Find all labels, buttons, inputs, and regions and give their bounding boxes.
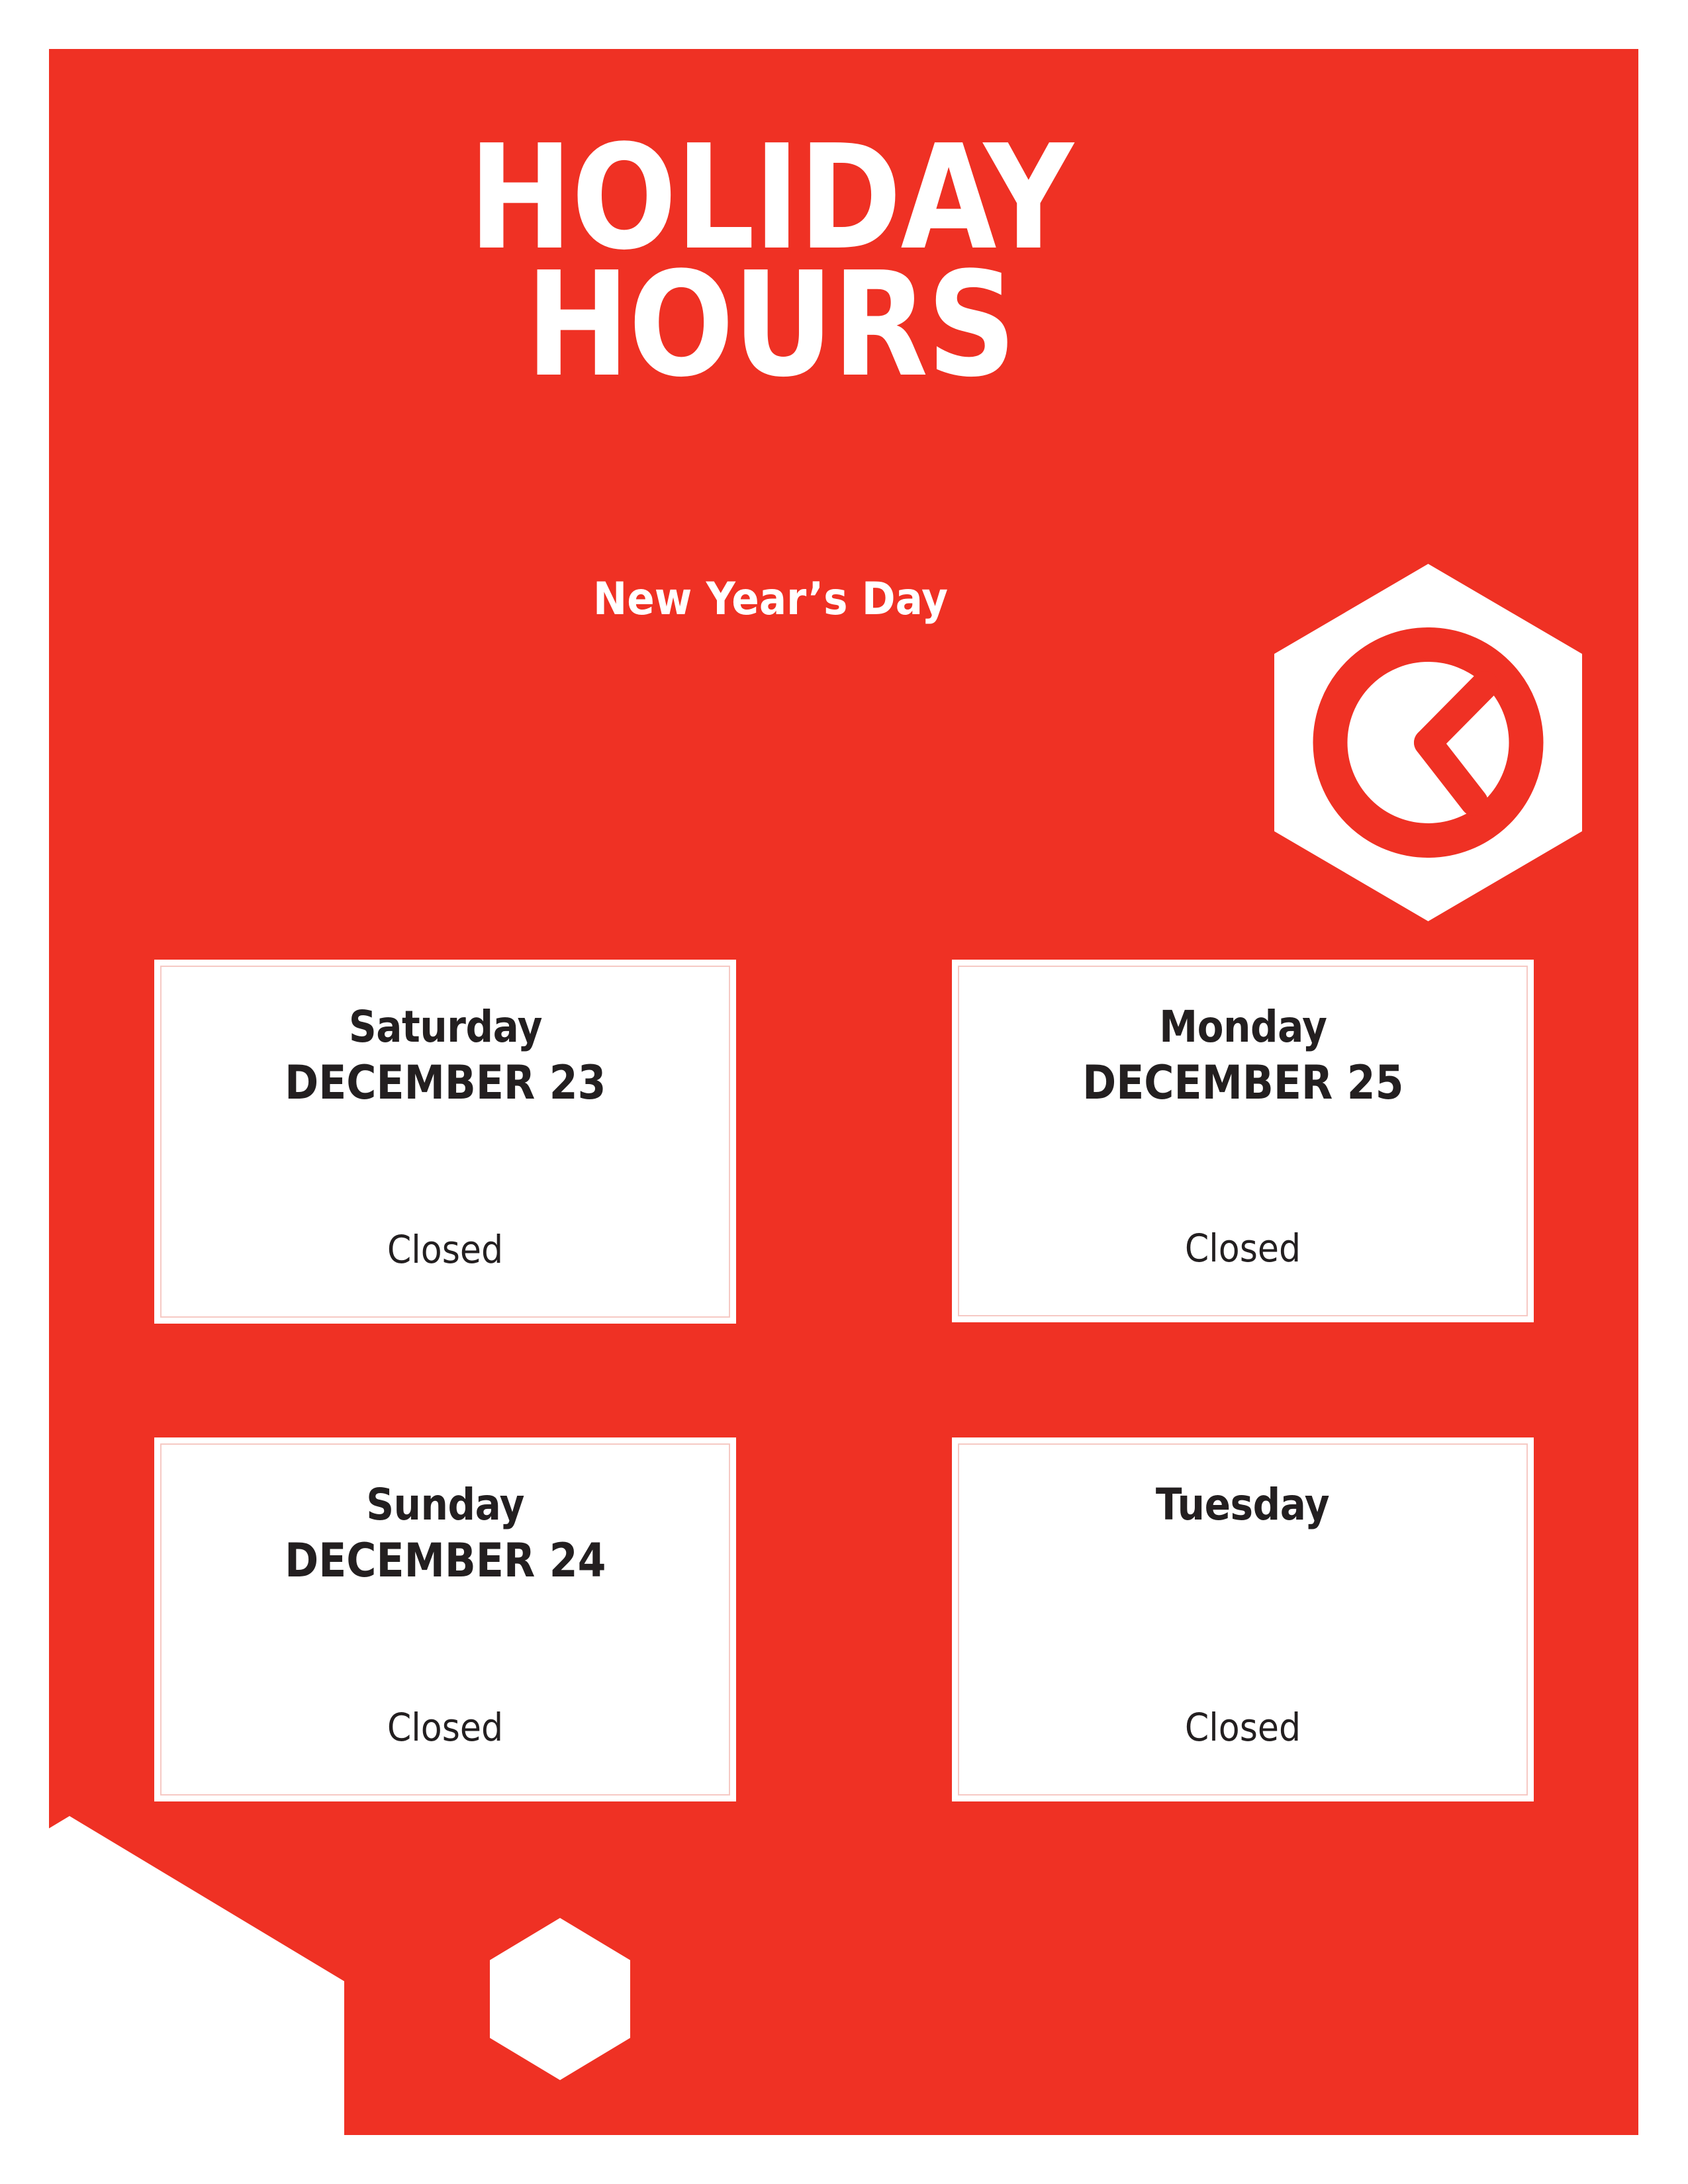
holiday-hours-poster: HOLIDAY HOURS New Year’s Day Saturday DE… [0,0,1688,2184]
schedule-card-weekday: Tuesday [1156,1482,1329,1527]
schedule-card: Tuesday Closed [952,1437,1534,1801]
schedule-card-weekday: Saturday [348,1004,541,1050]
schedule-card: Saturday DECEMBER 23 Closed [154,960,736,1324]
schedule-card-weekday: Sunday [366,1482,524,1527]
schedule-card-inner: Saturday DECEMBER 23 Closed [160,966,730,1318]
clock-tick-12 [1421,627,1436,659]
clock-tick-6 [1421,826,1436,858]
clock-tick-3 [1511,735,1542,750]
schedule-card: Monday DECEMBER 25 Closed [952,960,1534,1322]
schedule-card-inner: Sunday DECEMBER 24 Closed [160,1443,730,1796]
schedule-card-status: Closed [190,1230,700,1269]
schedule-card-inner: Monday DECEMBER 25 Closed [958,966,1528,1316]
schedule-card-inner: Tuesday Closed [958,1443,1528,1796]
clock-icon [1274,564,1582,921]
schedule-card-date: DECEMBER 25 [1082,1059,1403,1108]
bottom-margin-mask [0,2135,1688,2184]
schedule-card-status: Closed [988,1708,1498,1747]
schedule-card-status: Closed [988,1229,1498,1267]
schedule-card-date: DECEMBER 24 [285,1537,606,1586]
clock-tick-9 [1314,735,1346,750]
schedule-card-status: Closed [190,1708,700,1747]
left-margin-mask [0,0,49,2184]
schedule-card: Sunday DECEMBER 24 Closed [154,1437,736,1801]
schedule-card-date: DECEMBER 23 [285,1059,606,1108]
schedule-card-weekday: Monday [1159,1004,1327,1050]
